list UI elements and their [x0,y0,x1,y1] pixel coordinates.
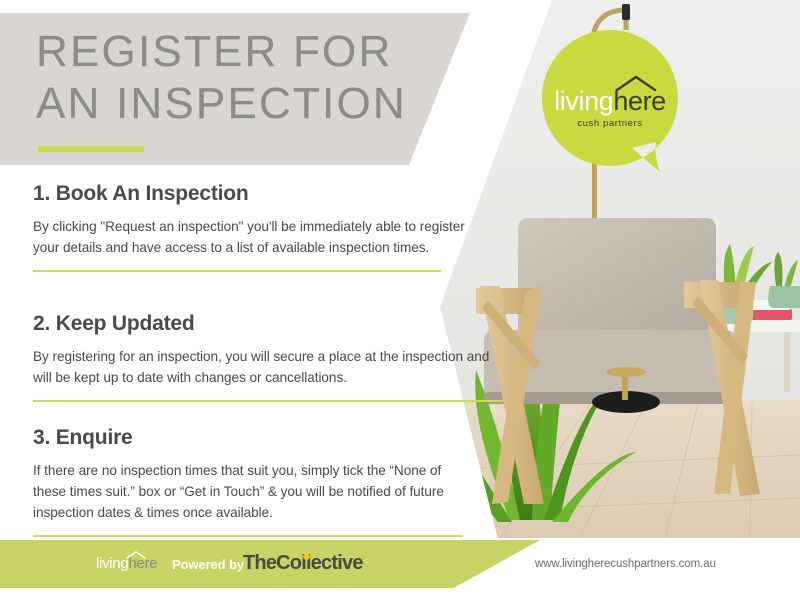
footer-logo-word-living: living [96,555,128,572]
step-1-divider [33,270,441,272]
logo-word-here: here [613,86,665,116]
website-url: www.livingherecushpartners.com.au [535,558,716,570]
step-2-body: By registering for an inspection, you wi… [33,346,503,388]
step-section-3: 3. Enquire If there are no inspection ti… [33,426,463,537]
step-2-divider [33,400,503,402]
living-here-logo-badge: livinghere cush partners [536,30,684,178]
logo-wordmark: livinghere [536,88,684,115]
page-title: Register for an Inspection [36,26,456,130]
step-section-2: 2. Keep Updated By registering for an in… [33,312,503,402]
poster-root: Register for an Inspection livinghere cu… [0,0,800,600]
logo-word-living: living [554,86,613,116]
step-3-body: If there are no inspection times that su… [33,460,463,523]
step-3-title: 3. Enquire [33,426,463,450]
step-section-1: 1. Book An Inspection By clicking "Reque… [33,182,473,272]
step-3-divider [33,535,463,537]
step-1-title: 1. Book An Inspection [33,182,473,206]
collective-dot-icon [303,553,310,560]
logo-tagline: cush partners [536,118,684,129]
footer-roof-chevron-icon [125,550,147,560]
powered-by-label: Powered by [172,557,244,572]
step-1-body: By clicking "Request an inspection" you'… [33,216,473,258]
title-accent-underline [38,146,144,152]
step-2-title: 2. Keep Updated [33,312,503,336]
